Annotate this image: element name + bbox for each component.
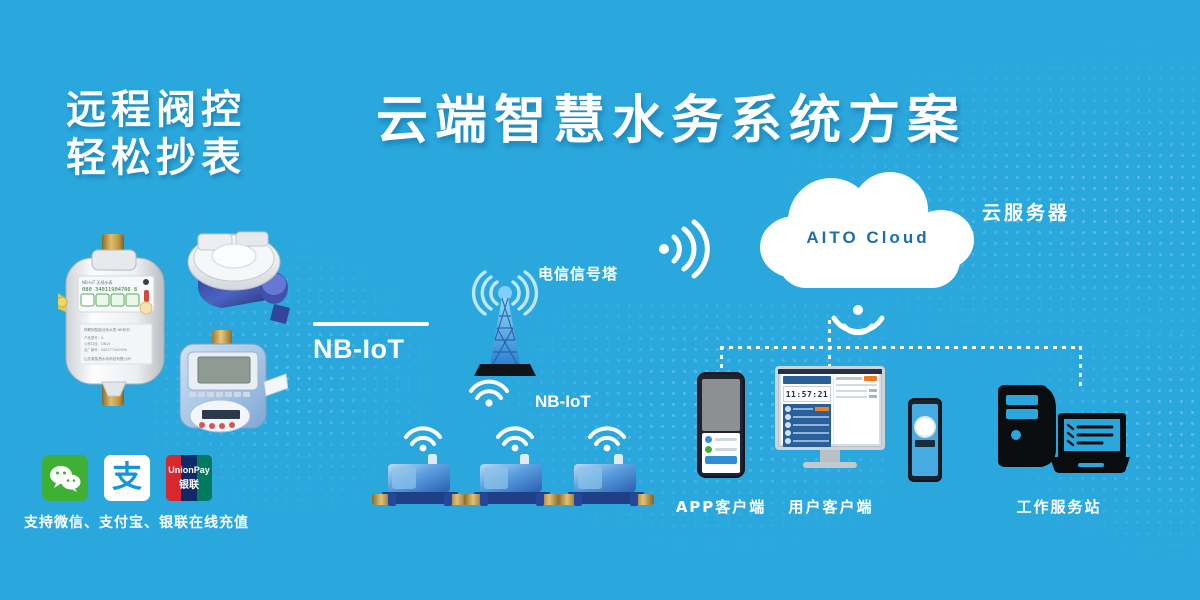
monitor-list-icon [785,406,791,412]
water-meter-white-large: NB-IoT 无线水表 080 34011904766 8 物联网智能远传水表 … [58,232,178,408]
monitor-right-pane [833,374,879,444]
cloud-label: AITO Cloud [760,228,976,248]
monitor-right-line [836,390,867,392]
monitor-list-icon [785,414,791,420]
svg-text:山东某智慧水务科技有限公司: 山东某智慧水务科技有限公司 [84,356,131,361]
monitor-screen: 11:57:21 [781,374,879,444]
monitor-list-icon [785,438,791,444]
phone-dialog-icon-2 [705,446,712,453]
unionpay-wordmark: UnionPay [168,465,210,475]
unionpay-icon: UnionPay 银联 [166,455,212,501]
monitor-right-line [836,396,867,398]
unionpay-cn-label: 银联 [179,476,199,491]
left-headline-line-1: 远程阀控 [66,86,246,134]
smart-water-meter-2 [464,452,560,518]
alipay-icon: 支 [104,455,150,501]
wifi-signal-icon-upper-left [466,370,512,413]
monitor-stand-base [803,462,857,468]
monitor-list-row [785,422,829,428]
telecom-tower-label: 电信信号塔 [538,263,618,284]
monitor-list-icon [785,422,791,428]
connector-drop-monitor [828,346,831,368]
monitor-list-text [793,408,813,410]
nbiot-rule [313,322,429,326]
connector-bus-horizontal [720,346,1082,349]
monitor-right-tag [869,389,877,392]
monitor-action-button[interactable] [864,376,877,381]
water-meter-valve-blue [178,226,302,346]
work-station-icons[interactable] [990,383,1130,481]
monitor-right-header [836,376,877,381]
app-client-phone[interactable] [697,372,745,478]
poster-canvas: 远程阀控 轻松抄表 云端智慧水务系统方案 [0,0,1200,600]
user-client-phone[interactable] [908,398,942,482]
payment-badges: 支 UnionPay 银联 [42,455,212,501]
monitor-bezel: 11:57:21 [775,366,885,450]
phone-meter-dial [914,416,936,438]
monitor-right-line [836,384,877,386]
phone-app-dialog-row-1 [705,436,737,443]
monitor-right-row [836,395,877,398]
telecom-tower-icon [466,268,544,378]
left-headline: 远程阀控 轻松抄表 [66,86,246,182]
monitor-list-row [785,414,829,420]
monitor-right-title [836,377,862,380]
wifi-signal-icon-to-cloud [652,218,712,285]
monitor-list-text [793,440,829,442]
phone-app-screen-top [702,379,740,431]
cloud-server-graphic: AITO Cloud [760,172,976,294]
svg-text:物联网智能远传水表 NB系列: 物联网智能远传水表 NB系列 [84,327,130,332]
smart-water-meter-1 [372,452,468,518]
wifi-signal-icon-from-cloud [826,296,890,349]
phone-dialog-icon-1 [705,436,712,443]
smart-water-meter-3 [558,452,654,518]
nbiot-label-primary-text: NB-IoT [313,334,429,365]
phone-app-dialog-row-2 [705,446,737,453]
monitor-right-tag [869,395,877,398]
svg-text:产品型号：A: 产品型号：A [84,335,104,340]
monitor-right-row [836,389,877,392]
work-station-label: 工作服务站 [1000,496,1118,517]
user-client-monitor[interactable]: 11:57:21 [775,366,885,474]
phone-meter-reading [915,440,935,447]
monitor-list-text [793,432,829,434]
svg-text:公称口径：DN15: 公称口径：DN15 [84,341,110,346]
phone-dialog-confirm-button[interactable] [705,456,737,464]
monitor-right-row [836,384,877,386]
monitor-device-list [783,404,831,448]
page-title: 云端智慧水务系统方案 [376,90,966,152]
monitor-list-row [785,438,829,444]
monitor-list-text [793,424,829,426]
phone-dialog-text-1 [715,438,737,441]
monitor-header-bar [783,376,831,384]
alipay-glyph: 支 [112,463,142,493]
monitor-clock: 11:57:21 [783,386,831,402]
monitor-list-highlight [815,407,829,411]
svg-text:NB-IoT 无线水表: NB-IoT 无线水表 [82,279,113,285]
left-headline-line-2: 轻松抄表 [66,134,246,182]
user-client-label: 用户客户端 [766,496,896,517]
wechat-pay-icon [42,455,88,501]
phone-dialog-text-2 [715,448,737,451]
monitor-list-text [793,416,829,418]
water-meter-lcd-blue [168,330,288,442]
phone-app-dialog [702,433,740,473]
nbiot-label-secondary: NB-IoT [535,392,591,412]
nbiot-label-primary: NB-IoT [313,322,429,365]
svg-text:080 34011904766 8: 080 34011904766 8 [82,287,137,293]
monitor-list-icon [785,430,791,436]
cloud-server-caption: 云服务器 [982,198,1070,225]
monitor-left-pane: 11:57:21 [781,374,833,444]
connector-riser-cloud [828,320,831,348]
monitor-list-row [785,430,829,436]
payment-caption: 支持微信、支付宝、银联在线充值 [24,512,249,532]
svg-text:出厂编号：080177040996: 出厂编号：080177040996 [84,347,127,352]
monitor-list-row [785,406,829,412]
monitor-stand-neck [820,450,840,462]
